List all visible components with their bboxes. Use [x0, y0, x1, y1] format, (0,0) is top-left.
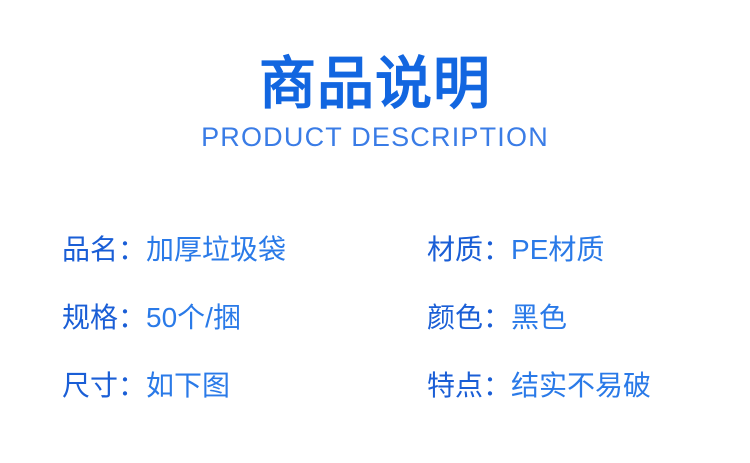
spec-label: 规格: [62, 301, 118, 335]
spec-label: 品名: [62, 233, 118, 267]
header: 商品说明 PRODUCT DESCRIPTION: [0, 52, 750, 152]
spec-row: 规格 ： 50个/捆 颜色 ： 黑色: [0, 284, 750, 352]
page-subtitle: PRODUCT DESCRIPTION: [0, 122, 750, 152]
spec-item-size: 尺寸 ： 如下图: [62, 352, 230, 420]
spec-value: 结实不易破: [511, 369, 651, 403]
spec-label: 材质: [427, 233, 483, 267]
spec-grid: 品名 ： 加厚垃圾袋 材质 ： PE材质 规格 ： 50个/捆 颜色 ： 黑色: [0, 216, 750, 420]
spec-row: 品名 ： 加厚垃圾袋 材质 ： PE材质: [0, 216, 750, 284]
spec-item-color: 颜色 ： 黑色: [427, 284, 567, 352]
spec-item-material: 材质 ： PE材质: [427, 216, 604, 284]
product-description-panel: 商品说明 PRODUCT DESCRIPTION 品名 ： 加厚垃圾袋 材质 ：…: [0, 0, 750, 463]
spec-item-product-name: 品名 ： 加厚垃圾袋: [62, 216, 286, 284]
spec-value: 如下图: [146, 369, 230, 403]
spec-label: 尺寸: [62, 369, 118, 403]
spec-value: 50个/捆: [146, 301, 241, 335]
spec-separator: ：: [118, 301, 146, 335]
spec-separator: ：: [483, 301, 511, 335]
page-title: 商品说明: [0, 52, 750, 116]
spec-separator: ：: [118, 369, 146, 403]
spec-separator: ：: [118, 233, 146, 267]
spec-row: 尺寸 ： 如下图 特点 ： 结实不易破: [0, 352, 750, 420]
spec-item-feature: 特点 ： 结实不易破: [427, 352, 651, 420]
spec-value: 加厚垃圾袋: [146, 233, 286, 267]
spec-separator: ：: [483, 369, 511, 403]
spec-item-specification: 规格 ： 50个/捆: [62, 284, 241, 352]
spec-label: 颜色: [427, 301, 483, 335]
spec-label: 特点: [427, 369, 483, 403]
spec-separator: ：: [483, 233, 511, 267]
spec-value: PE材质: [511, 233, 604, 267]
spec-value: 黑色: [511, 301, 567, 335]
